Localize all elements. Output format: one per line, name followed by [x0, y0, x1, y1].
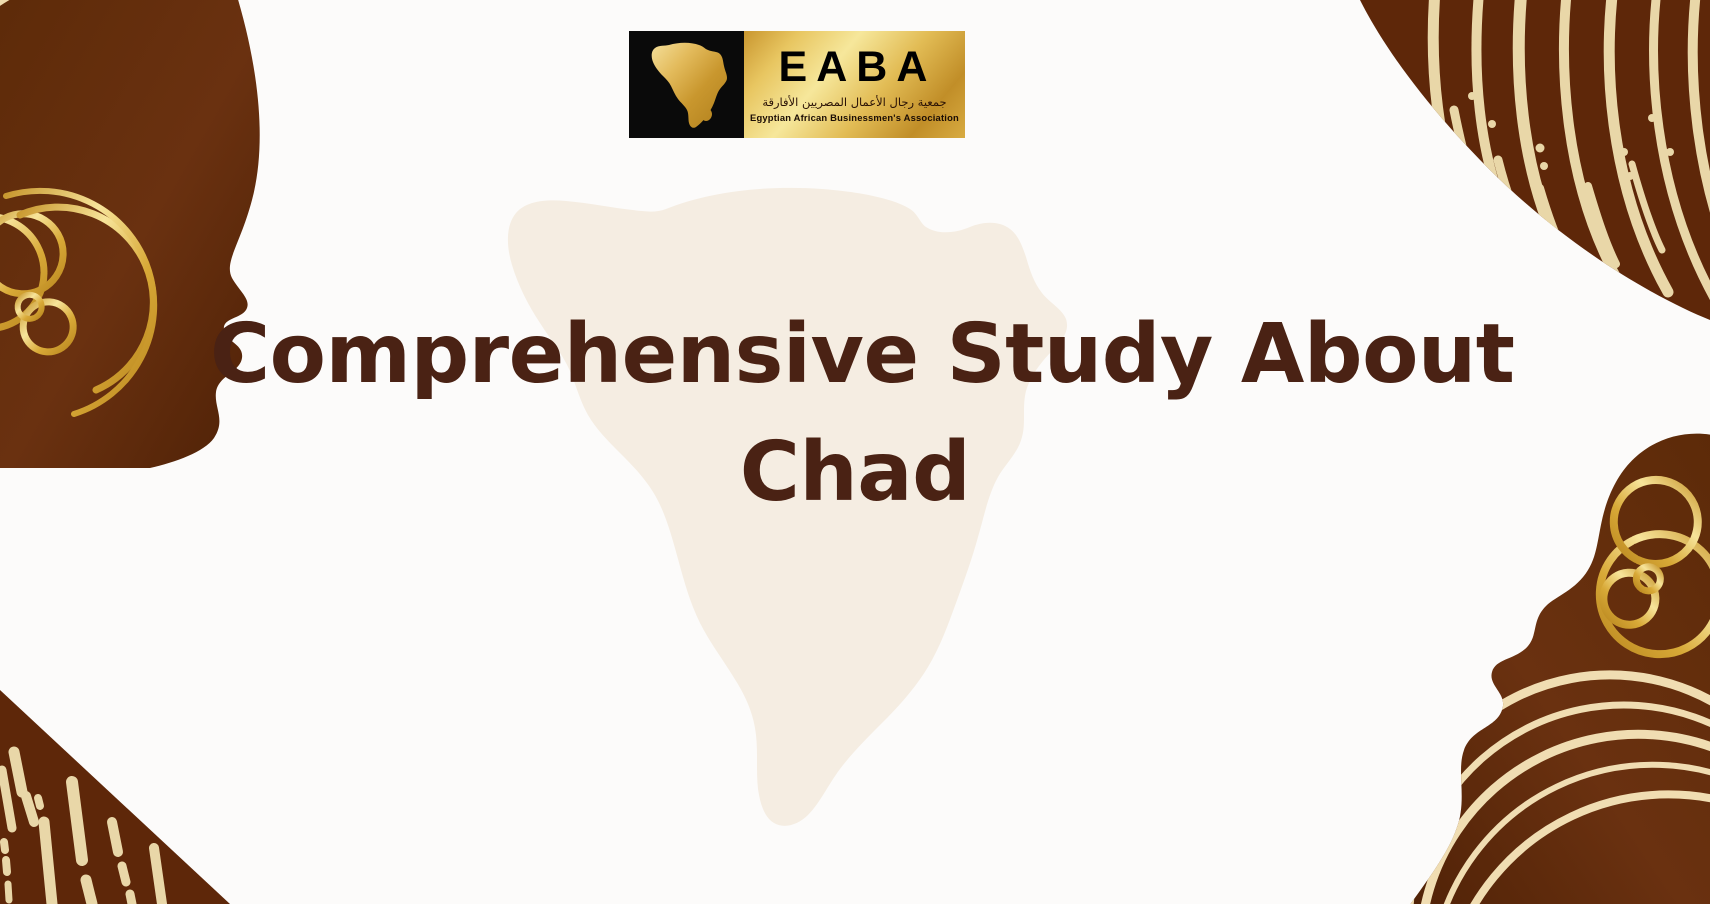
- logo-arabic-name: جمعية رجال الأعمال المصريين الأفارقة: [762, 95, 946, 109]
- striped-triangle-bottom-left: [0, 560, 290, 904]
- striped-arcs-top-right: [1240, 0, 1710, 340]
- eaba-logo: EABA جمعية رجال الأعمال المصريين الأفارق…: [629, 31, 939, 138]
- page-title-line-2: Chad: [210, 414, 1500, 532]
- logo-mark: [629, 31, 744, 138]
- page-title-line-1: Comprehensive Study About: [210, 296, 1500, 414]
- logo-english-name: Egyptian African Businessmen's Associati…: [750, 112, 959, 123]
- logo-text-plate: EABA جمعية رجال الأعمال المصريين الأفارق…: [744, 31, 965, 138]
- logo-acronym: EABA: [779, 46, 937, 89]
- title-slide: EABA جمعية رجال الأعمال المصريين الأفارق…: [0, 0, 1710, 904]
- page-title: Comprehensive Study About Chad: [0, 296, 1710, 532]
- africa-continent-icon: [645, 41, 729, 129]
